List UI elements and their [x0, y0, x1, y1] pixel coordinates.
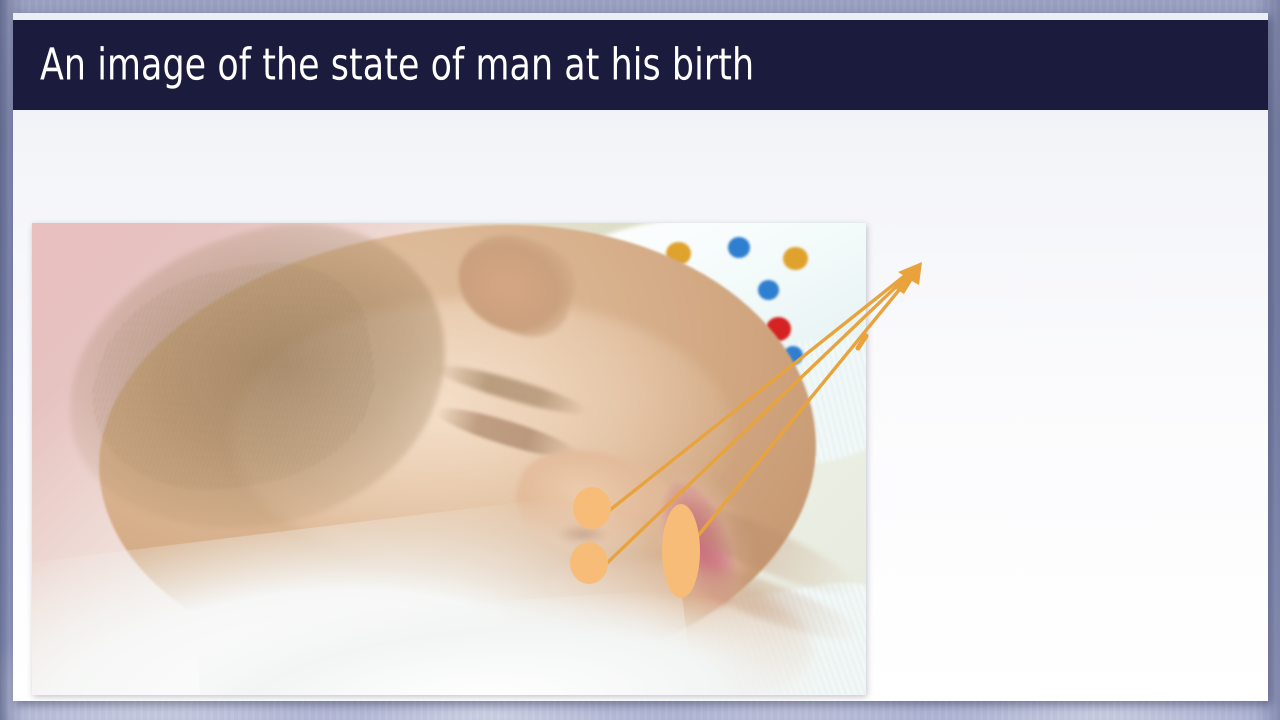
- baby-photo: [32, 223, 866, 695]
- page-title: An image of the state of man at his birt…: [40, 40, 754, 91]
- slide-title-bar: An image of the state of man at his birt…: [13, 20, 1268, 110]
- baby-photo-frame: [32, 223, 866, 695]
- blanket-dot: [728, 237, 750, 258]
- blanket-dot: [783, 247, 808, 271]
- desktop-backdrop: An image of the state of man at his birt…: [0, 0, 1280, 720]
- presentation-slide: An image of the state of man at his birt…: [13, 13, 1268, 701]
